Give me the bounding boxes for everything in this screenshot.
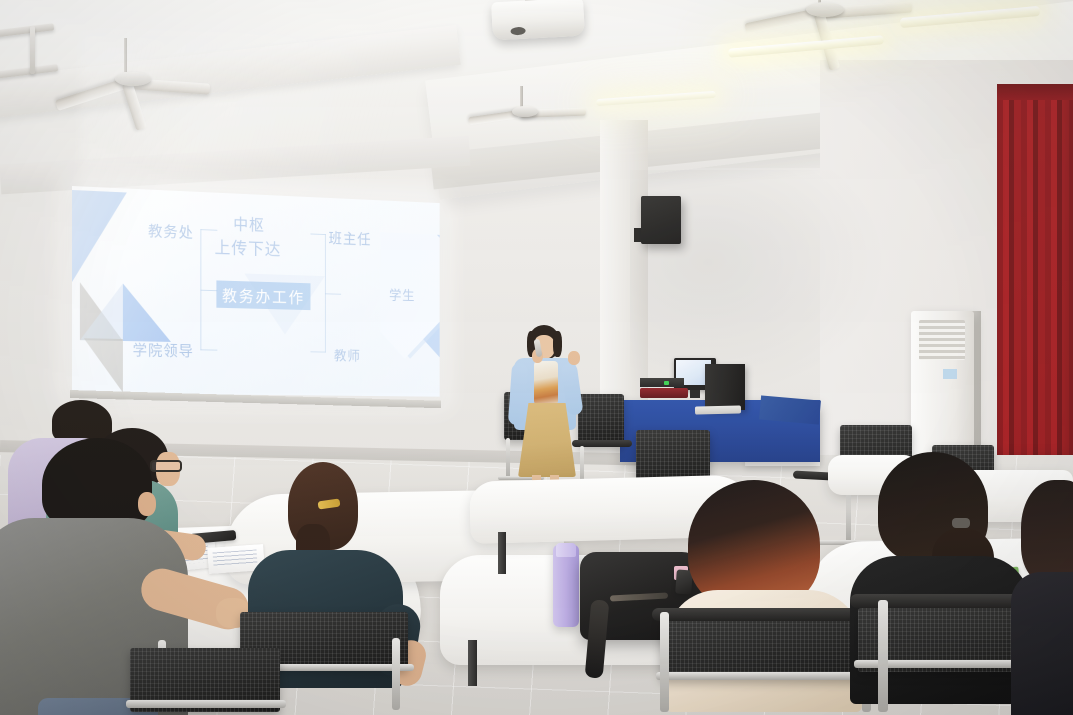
attendee-hair: [42, 438, 152, 530]
slide-node-college-leaders: 学院领导: [133, 339, 194, 361]
keyboard: [695, 405, 741, 414]
table-leg: [468, 640, 477, 686]
lectern-drape: [759, 395, 821, 424]
wall-speaker: [641, 196, 681, 244]
slide-title-line-1: 中枢: [233, 211, 265, 236]
pc-tower: [705, 364, 745, 410]
av-rack-unit-red: [640, 388, 688, 398]
projector-lens: [510, 27, 525, 36]
slide-center-label: 教务办工作: [216, 280, 310, 310]
chair-leg: [660, 612, 669, 712]
slide-decoration-triangle: [72, 190, 127, 284]
projection-screen: 教务处 中枢 上传下达 班主任 学生 教务办工作 学院领导 教师: [72, 186, 440, 397]
slide-node-teachers: 教师: [334, 346, 361, 365]
air-conditioner-grill: [919, 320, 965, 360]
presenter-hair-side: [553, 331, 562, 357]
fan-hub: [512, 106, 538, 117]
lavender-thermos: [553, 545, 579, 627]
fan-hub: [115, 72, 151, 86]
attendee-hair: [1021, 480, 1073, 584]
chair-armrest: [652, 608, 878, 621]
slide-decoration-triangle: [80, 282, 123, 341]
slide-title-line-2: 上传下达: [215, 234, 282, 261]
chair-leg: [392, 638, 400, 710]
ceiling-projector: [491, 0, 585, 40]
classroom-photo: 教务处 中枢 上传下达 班主任 学生 教务办工作 学院领导 教师: [0, 0, 1073, 715]
slide-node-students: 学生: [389, 286, 415, 306]
chair-back-rest: [660, 618, 872, 680]
chair-leg: [878, 600, 888, 712]
attendee-torso: [1011, 572, 1073, 715]
slide-node-academic-affairs-office: 教务处: [148, 220, 194, 242]
presenter: [506, 325, 586, 500]
light-rail-vertical: [30, 26, 35, 74]
table-leg: [498, 532, 506, 574]
air-conditioner-label: [943, 369, 957, 379]
fan-hub: [806, 2, 844, 17]
presenter-hand-right: [568, 351, 580, 365]
fan-rod: [520, 86, 523, 108]
monitor-stand: [690, 390, 700, 398]
av-rack-unit: [640, 378, 684, 387]
slide-decoration-triangle: [123, 284, 171, 342]
av-status-led: [664, 381, 669, 385]
fan-rod: [124, 38, 127, 72]
slide-node-class-advisor: 班主任: [329, 228, 372, 250]
presenter-floral-top: [534, 361, 558, 405]
chair-frame-bar: [126, 700, 286, 708]
attendee-ear: [138, 492, 156, 516]
red-curtain: [997, 84, 1073, 456]
hair-tie: [952, 518, 970, 528]
chair-frame-bar: [656, 672, 878, 680]
thermos-cap: [556, 543, 576, 557]
slide-decoration-triangle: [84, 338, 123, 392]
curtain-rail: [997, 84, 1073, 100]
attendee-right-edge: [1005, 480, 1073, 715]
